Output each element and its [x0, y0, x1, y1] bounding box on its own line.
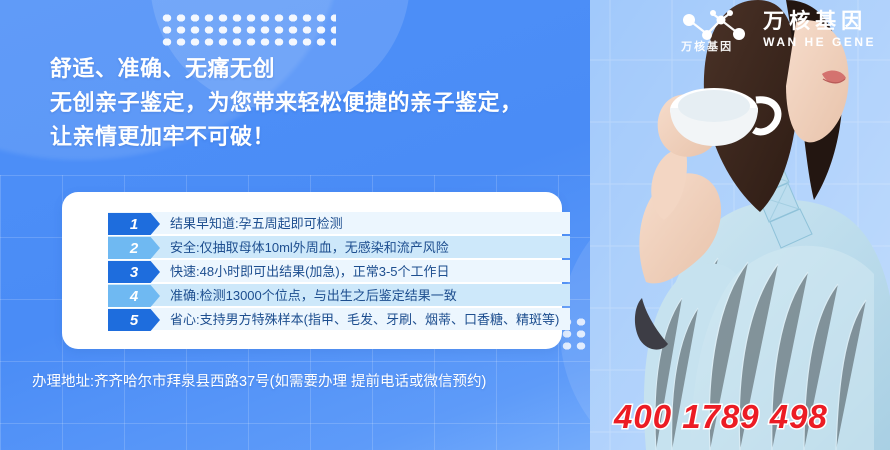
list-item: 1 结果早知道:孕五周起即可检测 [108, 212, 570, 236]
item-number-badge: 1 [108, 213, 160, 235]
list-item: 4 准确:检测13000个位点，与出生之后鉴定结果一致 [108, 284, 570, 308]
item-text: 安全:仅抽取母体10ml外周血，无感染和流产风险 [170, 237, 449, 259]
item-number-badge: 2 [108, 237, 160, 259]
hotline-phone-number[interactable]: 400 1789 498 [614, 398, 828, 436]
logo-name-cn: 万核基因 [763, 10, 867, 34]
logo-text-block: 万核基因 WAN HE GENE [763, 10, 876, 50]
logo-mark-label: 万核基因 [681, 38, 733, 54]
headline: 舒适、准确、无痛无创 无创亲子鉴定，为您带来轻松便捷的亲子鉴定， 让亲情更加牢不… [50, 52, 650, 154]
molecule-network-icon: 万核基因 [677, 8, 753, 52]
headline-line-2: 无创亲子鉴定，为您带来轻松便捷的亲子鉴定， [50, 86, 650, 120]
brand-logo: 万核基因 万核基因 WAN HE GENE [677, 8, 876, 52]
item-text: 快速:48小时即可出结果(加急)，正常3-5个工作日 [170, 261, 450, 283]
logo-name-en: WAN HE GENE [763, 34, 876, 50]
item-text: 结果早知道:孕五周起即可检测 [170, 213, 343, 235]
list-item: 5 省心:支持男方特殊样本(指甲、毛发、牙刷、烟蒂、口香糖、精斑等) [108, 308, 570, 332]
dot-grid-top-icon [160, 12, 336, 48]
list-item: 2 安全:仅抽取母体10ml外周血，无感染和流产风险 [108, 236, 570, 260]
office-address: 办理地址:齐齐哈尔市拜泉县西路37号(如需要办理 提前电话或微信预约) [32, 372, 486, 392]
item-number-badge: 3 [108, 261, 160, 283]
promo-banner: 万核基因 万核基因 WAN HE GENE 舒适、准确、无痛无创 无创亲子鉴定，… [0, 0, 890, 450]
list-item: 3 快速:48小时即可出结果(加急)，正常3-5个工作日 [108, 260, 570, 284]
item-number-badge: 4 [108, 285, 160, 307]
item-text: 省心:支持男方特殊样本(指甲、毛发、牙刷、烟蒂、口香糖、精斑等) [170, 309, 559, 331]
item-number-badge: 5 [108, 309, 160, 331]
headline-line-1: 舒适、准确、无痛无创 [50, 52, 650, 86]
headline-line-3: 让亲情更加牢不可破！ [50, 120, 650, 154]
item-text: 准确:检测13000个位点，与出生之后鉴定结果一致 [170, 285, 457, 307]
feature-list: 1 结果早知道:孕五周起即可检测 2 安全:仅抽取母体10ml外周血，无感染和流… [108, 212, 570, 332]
